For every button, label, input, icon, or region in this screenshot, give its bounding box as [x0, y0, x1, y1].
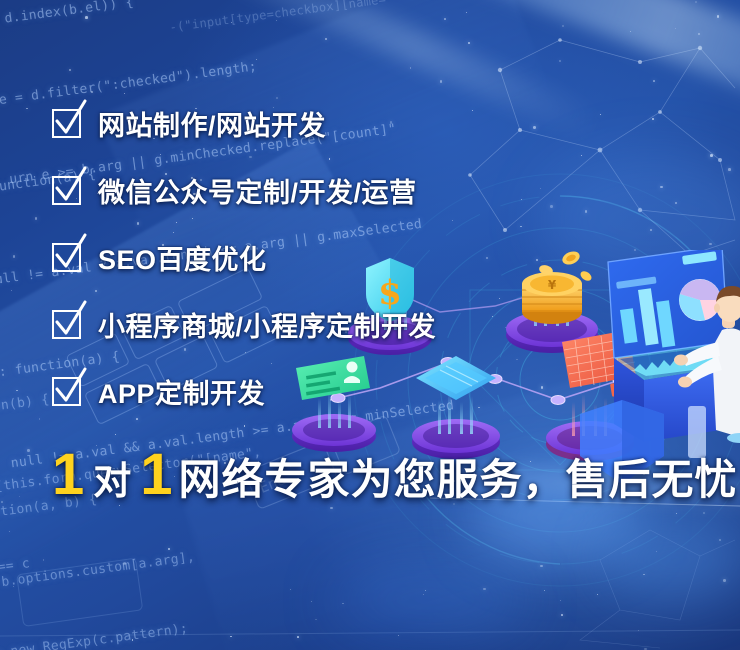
star-dot — [723, 579, 726, 582]
checkbox-checked-icon[interactable] — [52, 310, 81, 339]
star-dot — [653, 80, 655, 82]
star-dot — [123, 562, 126, 565]
checkbox-checked-icon[interactable] — [52, 176, 81, 205]
star-dot — [11, 290, 12, 291]
headline-number-first: 1 — [52, 446, 84, 504]
star-dot — [562, 25, 565, 28]
star-dot — [410, 67, 411, 68]
headline-number-second: 1 — [140, 446, 172, 504]
service-checklist: 网站制作/网站开发 微信公众号定制/开发/运营 SEO百度优化 小程序商城/小程… — [52, 100, 436, 435]
star-dot — [91, 91, 93, 93]
checklist-item-label: 微信公众号定制/开发/运营 — [98, 171, 417, 210]
star-dot — [444, 18, 446, 20]
star-dot — [719, 539, 721, 541]
star-dot — [26, 108, 28, 110]
svg-text:¥: ¥ — [548, 278, 557, 292]
star-dot — [19, 496, 20, 497]
code-text-top-strip: -("input[type=checkbox][name='" + b.filt… — [169, 0, 544, 34]
headline: 1 对 1 网络专家为您服务，售后无忧！ — [52, 446, 740, 504]
star-dot — [423, 594, 424, 595]
star-dot — [660, 186, 663, 189]
headline-rest-text: 网络专家为您服务，售后无忧！ — [179, 459, 740, 501]
star-dot — [35, 217, 38, 220]
star-dot — [597, 594, 598, 595]
star-dot — [550, 205, 553, 208]
star-dot — [540, 565, 543, 568]
star-dot — [585, 210, 588, 213]
star-dot — [119, 505, 120, 506]
star-dot — [560, 600, 561, 601]
star-dot — [311, 601, 312, 602]
star-dot — [544, 590, 545, 591]
star-dot — [13, 255, 16, 258]
coin-stack-icon: ¥ — [522, 272, 582, 324]
star-dot — [638, 630, 640, 632]
headline-middle-word: 对 — [93, 463, 131, 501]
star-dot — [709, 243, 712, 246]
promo-banner: End — [0, 0, 740, 650]
coin-stack-node: ¥ — [506, 250, 598, 353]
star-dot — [297, 636, 299, 638]
checkbox-checked-icon[interactable] — [52, 243, 81, 272]
star-dot — [315, 619, 317, 621]
star-dot — [540, 188, 541, 189]
star-dot — [13, 586, 14, 587]
checklist-item-4[interactable]: APP定制开发 — [52, 368, 436, 415]
star-dot — [425, 590, 426, 591]
star-dot — [630, 31, 631, 32]
checklist-item-0[interactable]: 网站制作/网站开发 — [52, 100, 436, 147]
star-dot — [1, 501, 3, 503]
checklist-item-label: SEO百度优化 — [98, 238, 267, 277]
star-dot — [656, 551, 658, 553]
star-dot — [675, 202, 677, 204]
star-dot — [276, 97, 278, 99]
checkbox-checked-icon[interactable] — [52, 377, 81, 406]
star-dot — [276, 20, 277, 21]
star-dot — [27, 449, 30, 452]
star-dot — [561, 614, 563, 616]
star-dot — [325, 38, 327, 40]
star-dot — [12, 504, 13, 505]
star-dot — [342, 603, 344, 605]
star-dot — [472, 110, 473, 111]
star-dot — [710, 154, 713, 157]
star-dot — [468, 42, 470, 44]
star-dot — [452, 220, 453, 221]
star-dot — [520, 226, 521, 227]
star-dot — [85, 16, 88, 19]
star-dot — [230, 636, 231, 637]
star-dot — [483, 588, 485, 590]
star-dot — [256, 59, 257, 60]
star-dot — [69, 69, 71, 71]
star-dot — [440, 80, 443, 83]
star-dot — [132, 639, 133, 640]
star-dot — [398, 635, 399, 636]
star-dot — [652, 118, 654, 120]
star-dot — [675, 28, 676, 29]
checkbox-checked-icon[interactable] — [52, 109, 81, 138]
glow-blob-2 — [600, 520, 740, 600]
star-dot — [581, 155, 582, 156]
star-dot — [533, 126, 536, 129]
star-dot — [168, 548, 171, 551]
star-dot — [124, 93, 125, 94]
star-dot — [43, 559, 45, 561]
checklist-item-1[interactable]: 微信公众号定制/开发/运营 — [52, 167, 436, 214]
star-dot — [9, 531, 10, 532]
star-dot — [728, 168, 731, 171]
checklist-item-3[interactable]: 小程序商城/小程序定制开发 — [52, 301, 436, 348]
star-dot — [466, 12, 467, 13]
star-dot — [330, 507, 332, 509]
star-dot — [231, 22, 232, 23]
checklist-item-label: 小程序商城/小程序定制开发 — [98, 305, 436, 344]
star-dot — [717, 15, 720, 18]
star-dot — [643, 574, 645, 576]
checklist-item-label: APP定制开发 — [98, 372, 265, 411]
star-dot — [39, 418, 41, 420]
star-dot — [695, 1, 697, 3]
star-dot — [698, 33, 700, 35]
star-dot — [600, 114, 601, 115]
star-dot — [521, 199, 522, 200]
star-dot — [16, 390, 18, 392]
glow-blob-3 — [330, 560, 530, 640]
checklist-item-label: 网站制作/网站开发 — [98, 104, 326, 143]
checklist-item-2[interactable]: SEO百度优化 — [52, 234, 436, 281]
star-dot — [290, 589, 292, 591]
star-dot — [650, 229, 652, 231]
star-dot — [559, 60, 561, 62]
